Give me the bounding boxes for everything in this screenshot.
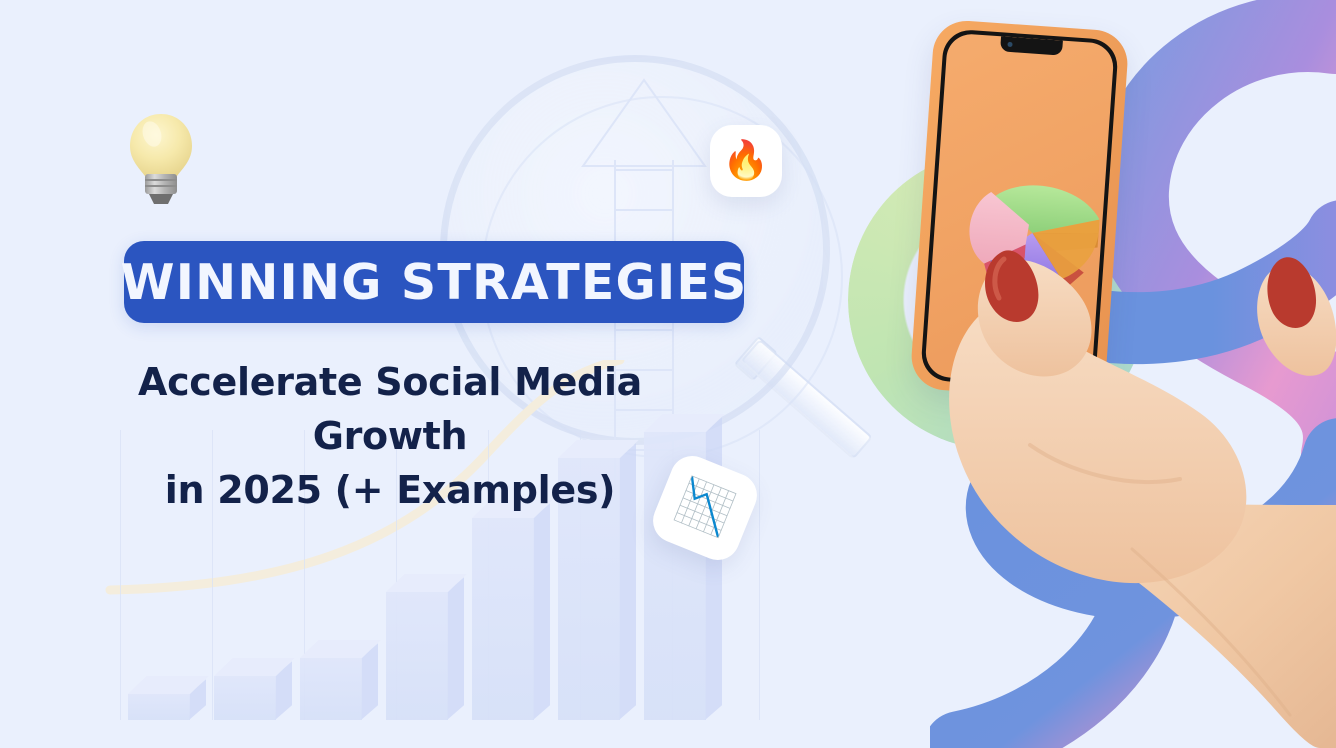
fire-icon: 🔥 [722, 142, 769, 180]
gradient-ribbon-swirls [930, 0, 1336, 748]
pie-chart-3d [941, 153, 1114, 314]
banner-label: WINNING STRATEGIES [120, 254, 747, 311]
hand-illustration [880, 205, 1336, 748]
page-subtitle: Accelerate Social Media Growth in 2025 (… [60, 356, 720, 518]
poster-canvas: 🔥 📉 [0, 0, 1336, 748]
phone-notch [1000, 36, 1063, 55]
fire-emoji-card: 🔥 [710, 125, 782, 197]
winning-strategies-banner: WINNING STRATEGIES [124, 241, 744, 323]
subtitle-line-2: in 2025 (+ Examples) [60, 464, 720, 518]
green-gradient-ring [848, 150, 1148, 450]
light-bulb-icon [125, 108, 197, 208]
subtitle-line-1: Accelerate Social Media Growth [138, 360, 642, 458]
smartphone-illustration [900, 25, 1160, 425]
